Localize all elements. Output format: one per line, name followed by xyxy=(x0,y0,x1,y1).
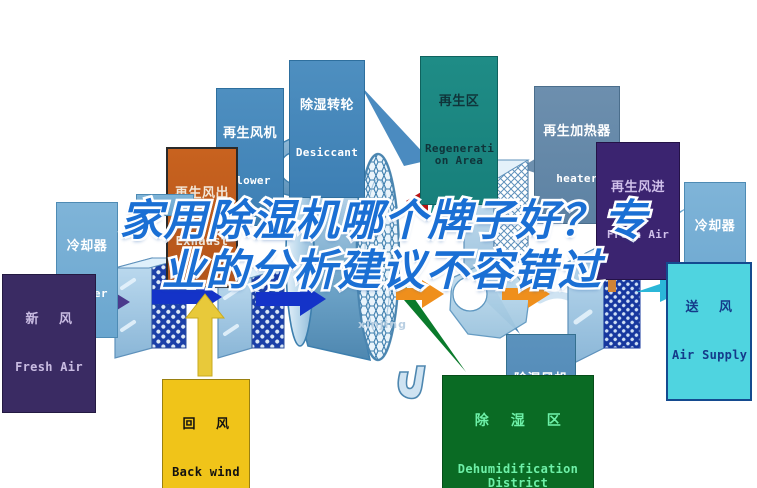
label-dehumid-district: 除 湿 区 Dehumidification District xyxy=(442,375,594,488)
diagram-canvas: xinjing 再生风机 Blower 除湿转轮 Desiccant 再生区 R… xyxy=(0,0,757,488)
label-back-wind: 回 风 Back wind xyxy=(162,379,250,488)
rotor-watermark: xinjing xyxy=(358,318,407,331)
drain-pan xyxy=(398,366,425,399)
label-regeneration-area: 再生区 Regenerati on Area xyxy=(420,56,498,205)
supply-fan xyxy=(450,266,574,338)
label-desiccant-rotor: 除湿转轮 Desiccant xyxy=(289,60,365,198)
label-air-supply: 送 风 Air Supply xyxy=(666,262,752,401)
label-cooler-left-2: 冷却器 xyxy=(136,194,194,216)
label-process-fresh-air: 新 风 Fresh Air xyxy=(2,274,96,413)
label-regen-fresh-air: 再生风进 Fresh Air xyxy=(596,142,680,280)
label-regen-exhaust: 再生风出 Exhaust xyxy=(166,147,238,288)
